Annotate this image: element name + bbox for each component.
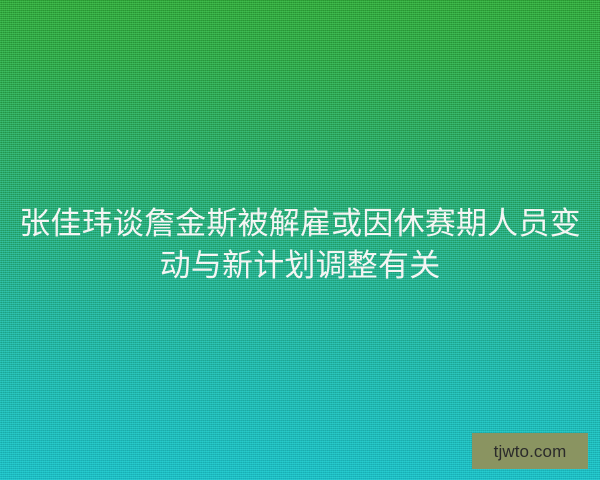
poster-image: 张佳玮谈詹金斯被解雇或因休赛期人员变 动与新计划调整有关 tjwto.com xyxy=(0,0,600,480)
watermark-label: tjwto.com xyxy=(494,443,567,460)
watermark-badge: tjwto.com xyxy=(472,433,588,469)
page-title: 张佳玮谈詹金斯被解雇或因休赛期人员变 动与新计划调整有关 xyxy=(0,203,600,287)
